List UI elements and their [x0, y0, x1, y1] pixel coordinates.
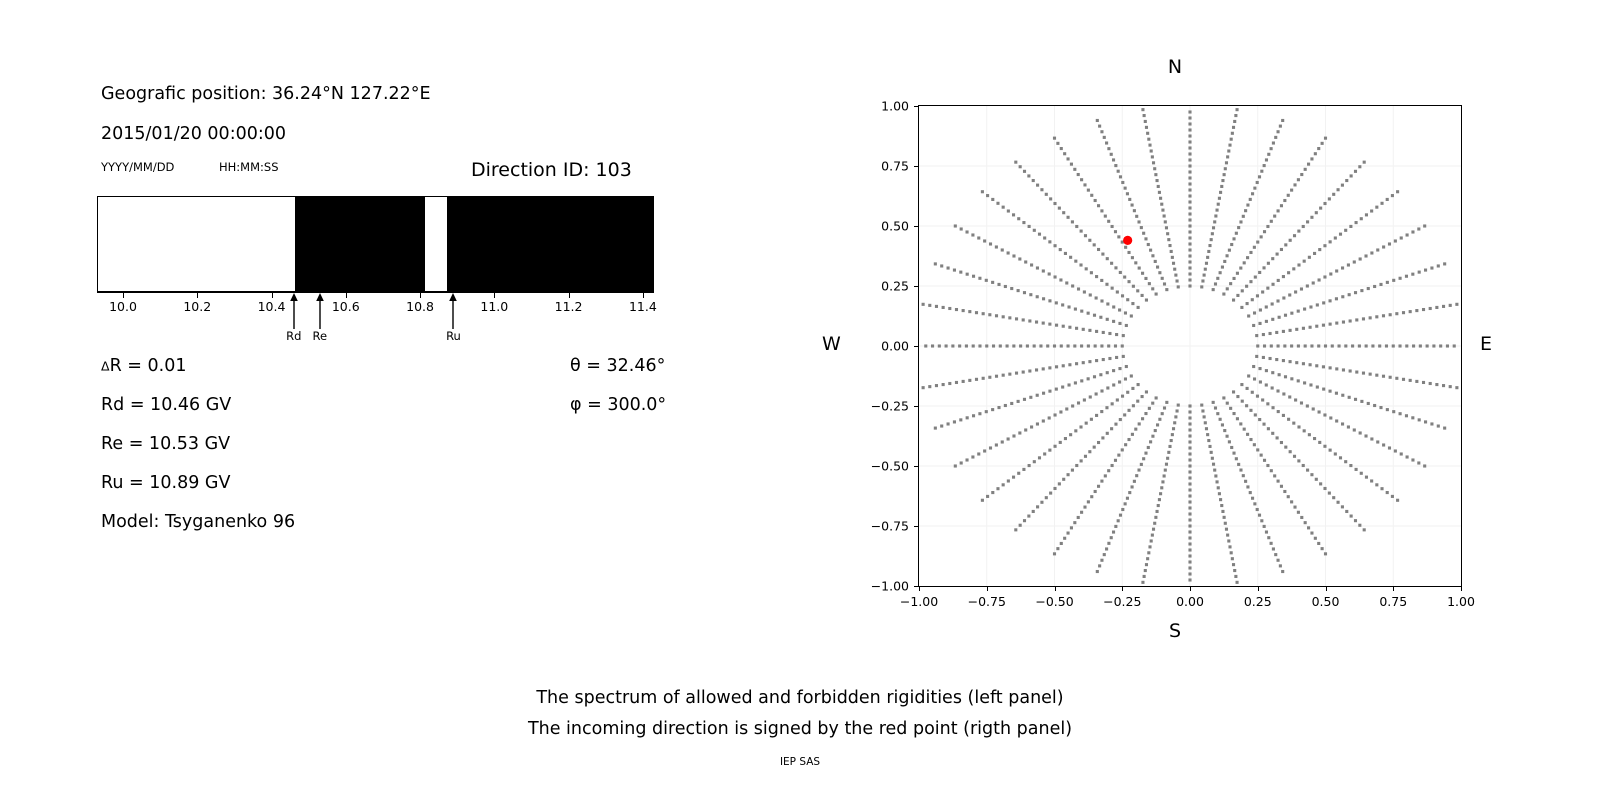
- cardinal-north-label: N: [1168, 56, 1182, 78]
- left-panel: Geografic position: 36.24°N 127.22°E 201…: [0, 0, 780, 800]
- polar-ytick: [914, 286, 919, 287]
- polar-ytick-label: −0.75: [853, 519, 909, 534]
- spectrum-x-axis: 10.010.210.410.610.811.011.211.4RdReRu: [97, 292, 654, 293]
- datetime-text: 2015/01/20 00:00:00: [101, 124, 286, 144]
- polar-xtick-label: 1.00: [1447, 594, 1475, 609]
- spectrum-xtick: [569, 293, 570, 298]
- right-panel: N S W E −1.00−0.75−0.50−0.250.000.250.50…: [780, 0, 1600, 800]
- polar-ytick-label: 1.00: [853, 99, 909, 114]
- polar-ytick-label: −1.00: [853, 579, 909, 594]
- spectrum-xtick-label: 10.4: [258, 299, 286, 314]
- spectrum-xtick-label: 10.8: [406, 299, 434, 314]
- polar-xtick-label: 0.75: [1379, 594, 1407, 609]
- spectrum-marker-re-arrow-icon: [313, 293, 327, 329]
- param-rd: Rd = 10.46 GV: [101, 395, 231, 415]
- spectrum-xtick-label: 10.2: [183, 299, 211, 314]
- spectrum-marker-re-label: Re: [313, 329, 328, 343]
- polar-ytick: [914, 226, 919, 227]
- spectrum-bar: [97, 196, 654, 292]
- spectrum-xtick: [494, 293, 495, 298]
- polar-ytick: [914, 466, 919, 467]
- incoming-direction-plot: −1.00−0.75−0.50−0.250.000.250.500.751.00…: [918, 105, 1462, 587]
- param-ru: Ru = 10.89 GV: [101, 473, 230, 493]
- polar-xtick-label: 0.25: [1244, 594, 1272, 609]
- polar-xtick: [1258, 586, 1259, 591]
- polar-xtick-label: 0.50: [1312, 594, 1340, 609]
- polar-ytick: [914, 106, 919, 107]
- delta-symbol: Δ: [101, 359, 110, 374]
- geographic-position-text: Geografic position: 36.24°N 127.22°E: [101, 84, 431, 104]
- polar-xtick: [1326, 586, 1327, 591]
- rigidity-spectrum-chart: 10.010.210.410.610.811.011.211.4RdReRu: [97, 196, 654, 292]
- spectrum-xtick-label: 11.0: [480, 299, 508, 314]
- spectrum-xtick: [420, 293, 421, 298]
- polar-xtick: [1122, 586, 1123, 591]
- date-format-label: YYYY/MM/DD: [101, 160, 174, 174]
- spectrum-band-forbidden-1: [295, 197, 425, 291]
- polar-ytick: [914, 346, 919, 347]
- polar-ytick-label: −0.25: [853, 399, 909, 414]
- param-re: Re = 10.53 GV: [101, 434, 230, 454]
- polar-xtick: [1461, 586, 1462, 591]
- polar-scatter-svg: [919, 106, 1461, 586]
- polar-ytick-label: −0.50: [853, 459, 909, 474]
- polar-ytick-label: 0.50: [853, 219, 909, 234]
- spectrum-marker-ru-label: Ru: [446, 329, 461, 343]
- polar-xtick: [919, 586, 920, 591]
- polar-xtick-label: −0.75: [968, 594, 1006, 609]
- direction-id-label: Direction ID: 103: [471, 159, 632, 181]
- param-delta-r-value: R = 0.01: [110, 356, 187, 376]
- incoming-direction-point: [1123, 236, 1132, 245]
- spectrum-xtick: [643, 293, 644, 298]
- spectrum-xtick: [272, 293, 273, 298]
- caption-line-2: The incoming direction is signed by the …: [0, 719, 1600, 739]
- param-phi: φ = 300.0°: [570, 395, 666, 415]
- param-theta: θ = 32.46°: [570, 356, 665, 376]
- polar-xtick: [1055, 586, 1056, 591]
- cardinal-south-label: S: [1169, 620, 1181, 642]
- polar-xtick: [1190, 586, 1191, 591]
- polar-ytick-label: 0.25: [853, 279, 909, 294]
- polar-xtick: [1393, 586, 1394, 591]
- polar-xtick-label: −0.50: [1035, 594, 1073, 609]
- time-format-label: HH:MM:SS: [219, 160, 279, 174]
- polar-xtick-label: −1.00: [900, 594, 938, 609]
- polar-xtick-label: −0.25: [1103, 594, 1141, 609]
- polar-ytick: [914, 526, 919, 527]
- spectrum-xtick-label: 11.2: [555, 299, 583, 314]
- param-model: Model: Tsyganenko 96: [101, 512, 295, 532]
- spectrum-band-forbidden-3: [447, 197, 654, 291]
- footer-credit: IEP SAS: [0, 756, 1600, 768]
- spectrum-marker-rd-arrow-icon: [287, 293, 301, 329]
- spectrum-marker-rd-label: Rd: [286, 329, 301, 343]
- polar-xtick-label: 0.00: [1176, 594, 1204, 609]
- polar-xtick: [987, 586, 988, 591]
- spectrum-marker-ru-arrow-icon: [446, 293, 460, 329]
- spectrum-xtick-label: 11.4: [629, 299, 657, 314]
- caption-line-1: The spectrum of allowed and forbidden ri…: [0, 688, 1600, 708]
- polar-ytick-label: 0.00: [853, 339, 909, 354]
- spectrum-xtick-label: 10.0: [109, 299, 137, 314]
- polar-ytick-label: 0.75: [853, 159, 909, 174]
- cardinal-east-label: E: [1480, 333, 1492, 355]
- spectrum-xtick: [123, 293, 124, 298]
- spectrum-xtick: [197, 293, 198, 298]
- cardinal-west-label: W: [822, 333, 841, 355]
- spectrum-xtick-label: 10.6: [332, 299, 360, 314]
- polar-ytick: [914, 166, 919, 167]
- param-delta-r: ΔR = 0.01: [101, 356, 186, 376]
- polar-ytick: [914, 406, 919, 407]
- spectrum-xtick: [346, 293, 347, 298]
